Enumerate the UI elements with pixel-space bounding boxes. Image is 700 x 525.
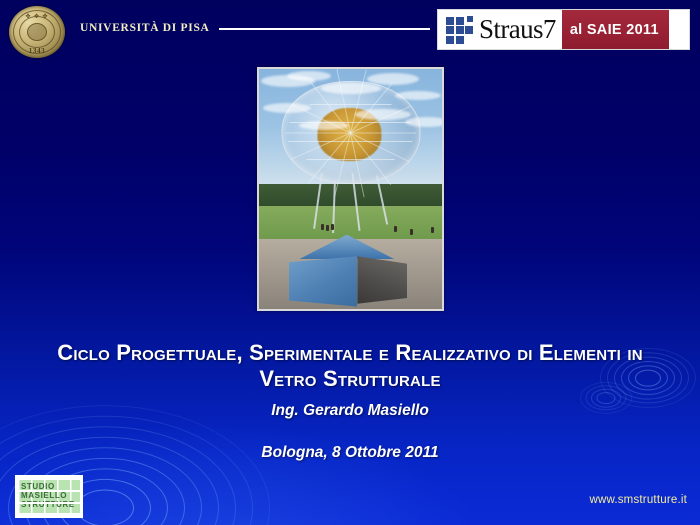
presenter-name: Ing. Gerardo Masiello	[0, 402, 700, 420]
venue-and-date: Bologna, 8 Ottobre 2011	[0, 444, 700, 462]
university-name-label: UNIVERSITÀ DI PISA	[80, 22, 210, 34]
photo-cloud	[405, 117, 442, 127]
photo-cloud	[263, 103, 311, 113]
photo-cloud	[299, 121, 349, 130]
straus7-wordmark: Straus7	[479, 16, 556, 43]
pyramid-roof	[281, 235, 413, 259]
studio-logo-text: STUDIO MASIELLO STRUTTURE	[21, 482, 75, 509]
slide-title: Ciclo Progettuale, Sperimentale e Realiz…	[40, 340, 660, 392]
straus7-squares-icon	[446, 17, 476, 43]
pyramid-shaded-face	[357, 256, 407, 304]
studio-logo-panel: STUDIO MASIELLO STRUTTURE	[18, 478, 80, 515]
studio-logo-gridline	[18, 490, 80, 492]
photo-frame	[257, 67, 444, 311]
photo-person	[394, 226, 397, 232]
seal-glyphs: ✤ ✥ ✤	[9, 13, 65, 20]
photo-person	[326, 225, 329, 231]
straus7-logo: Straus7 al SAIE 2011	[437, 9, 690, 50]
glass-pyramid-base	[281, 235, 413, 307]
website-url: www.smstrutture.it	[589, 494, 687, 506]
photo-cloud	[321, 83, 381, 94]
photo-person	[410, 229, 413, 235]
sphere-latitude-ring	[289, 141, 413, 142]
sphere-latitude-ring	[310, 104, 392, 105]
photo-cloud	[367, 73, 419, 85]
studio-logo-gridline	[18, 478, 80, 480]
studio-masiello-strutture-logo: STUDIO MASIELLO STRUTTURE	[15, 475, 83, 518]
header-divider-rule	[219, 28, 430, 30]
photo-hills	[259, 184, 442, 208]
studio-logo-gridline	[18, 502, 80, 504]
studio-logo-gridline	[18, 513, 80, 515]
photo-cloud	[355, 109, 411, 120]
presentation-slide: ✤ ✥ ✤ 1343 UNIVERSITÀ DI PISA Straus7 al…	[0, 0, 700, 525]
photo-person	[431, 227, 434, 233]
structure-photograph	[259, 69, 442, 309]
saie-2011-banner: al SAIE 2011	[562, 10, 669, 49]
university-of-pisa-seal-icon: ✤ ✥ ✤ 1343	[9, 6, 65, 58]
pyramid-glass-face	[289, 256, 358, 306]
seal-ring-inner	[27, 23, 47, 41]
photo-cloud	[287, 71, 331, 81]
seal-year: 1343	[9, 47, 65, 55]
photo-person	[321, 224, 324, 230]
photo-person	[331, 224, 334, 230]
photo-cloud	[395, 91, 441, 100]
sphere-latitude-ring	[307, 159, 395, 160]
